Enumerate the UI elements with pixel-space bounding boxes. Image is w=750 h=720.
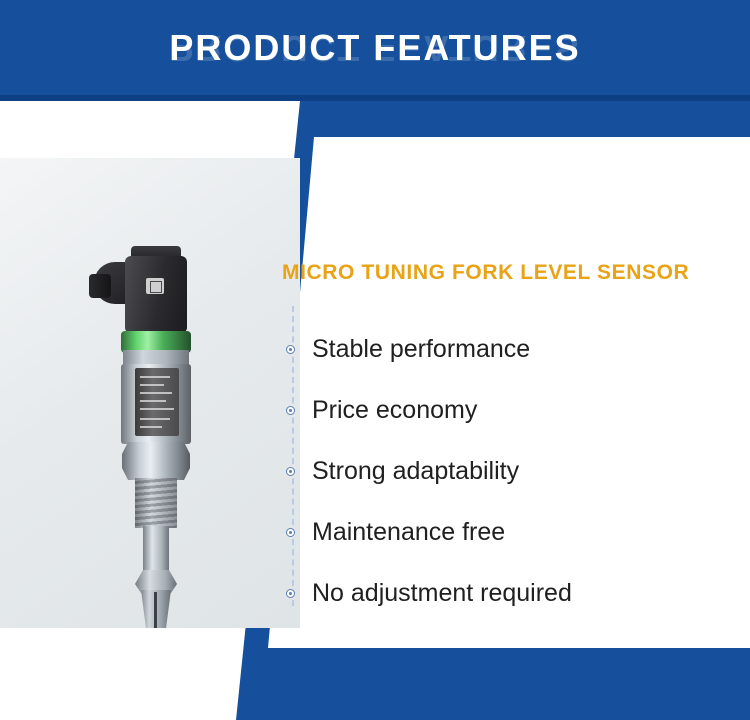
feature-label: No adjustment required [312, 579, 572, 607]
list-item: Price economy [286, 380, 736, 441]
product-heading: MICRO TUNING FORK LEVEL SENSOR [282, 261, 689, 285]
bullet-icon [286, 345, 295, 354]
nameplate-text-line [140, 408, 174, 410]
feature-label: Price economy [312, 396, 477, 424]
header-banner: PRODUCT FEATURES PRODUCT FEATURES [0, 0, 750, 101]
feature-label: Maintenance free [312, 518, 505, 546]
feature-list: Stable performance Price economy Strong … [286, 319, 736, 624]
sensor-nameplate [135, 368, 179, 436]
nameplate-text-line [140, 392, 172, 394]
list-item: Strong adaptability [286, 441, 736, 502]
list-item: No adjustment required [286, 563, 736, 624]
thread-shading [135, 478, 177, 528]
list-item: Maintenance free [286, 502, 736, 563]
bullet-icon [286, 467, 295, 476]
bullet-icon [286, 528, 295, 537]
nameplate-text-line [140, 426, 162, 428]
bullet-icon [286, 589, 295, 598]
content-area: MICRO TUNING FORK LEVEL SENSOR Stable pe… [0, 101, 750, 720]
nameplate-text-line [140, 418, 170, 420]
hex-nut [122, 442, 190, 480]
connector-body-icon [125, 256, 187, 332]
tuning-fork-sensor-illustration [95, 238, 215, 628]
bullet-icon [286, 406, 295, 415]
product-image-panel [0, 158, 300, 628]
page-title-reflection: PRODUCT FEATURES [0, 30, 750, 66]
list-item: Stable performance [286, 319, 736, 380]
feature-label: Stable performance [312, 335, 530, 363]
nameplate-text-line [140, 384, 164, 386]
nameplate-text-line [140, 376, 170, 378]
cable-gland-icon [89, 274, 111, 298]
nameplate-text-line [140, 400, 166, 402]
fork-slot [154, 592, 157, 628]
feature-label: Strong adaptability [312, 457, 519, 485]
connector-label-icon [146, 278, 164, 294]
sensor-stem [143, 526, 169, 576]
